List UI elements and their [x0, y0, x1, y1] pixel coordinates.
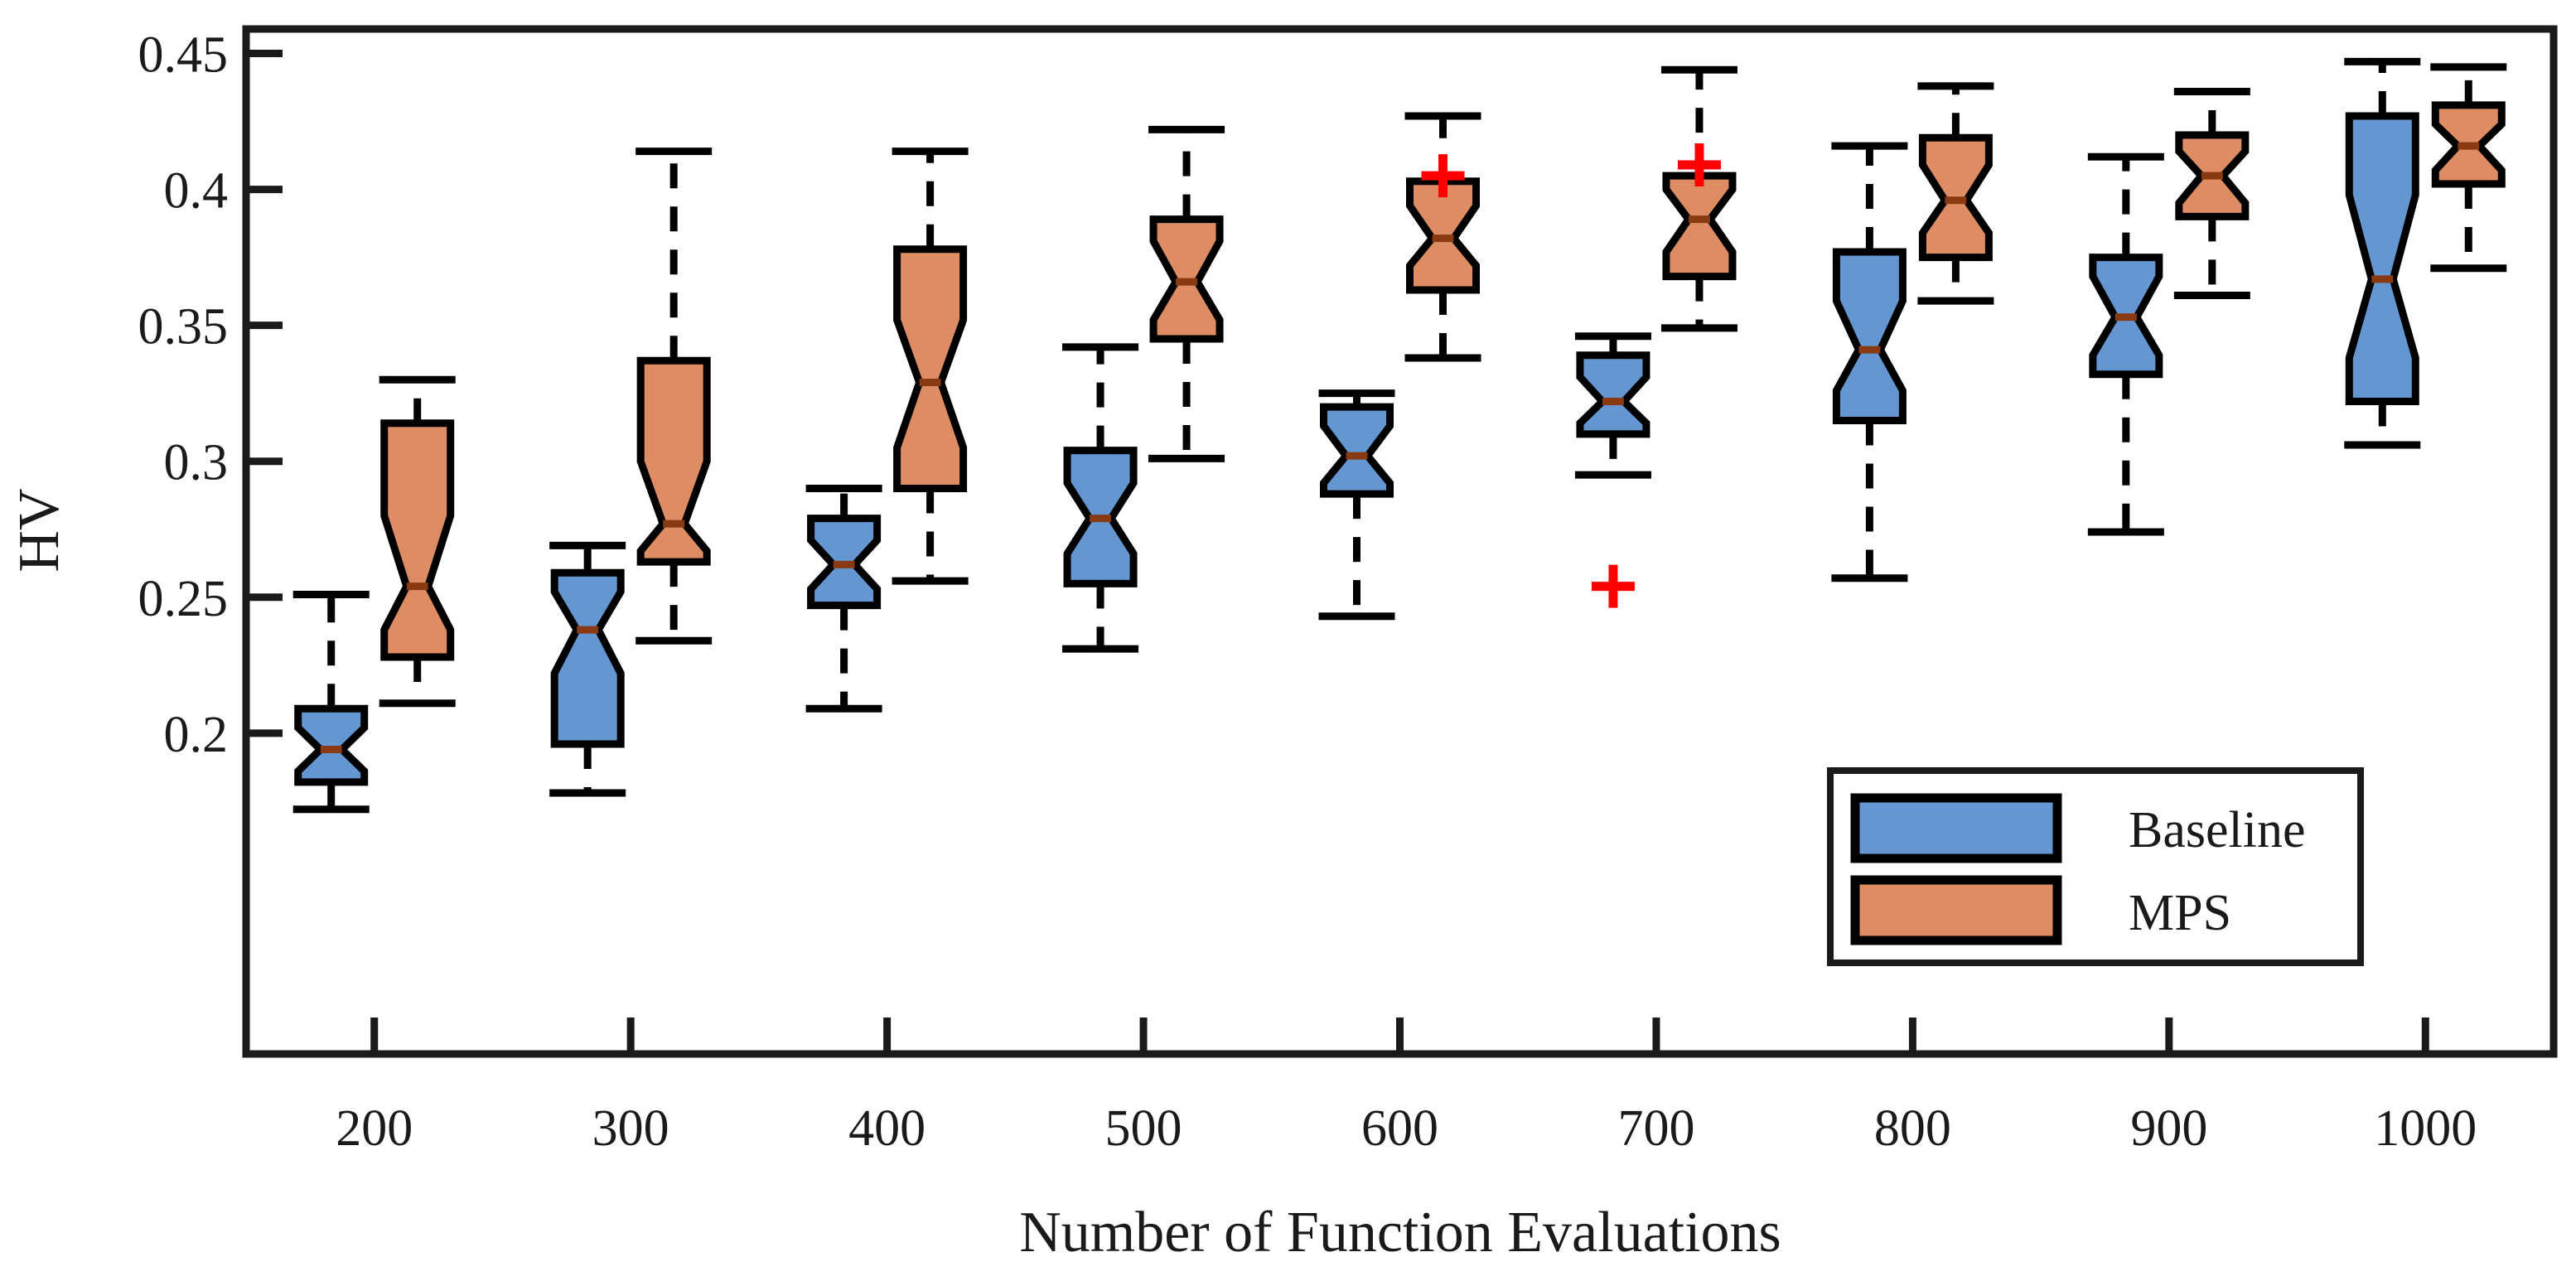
- boxplot-series-baseline: [293, 61, 2421, 809]
- x-tick-label: 400: [848, 1100, 926, 1157]
- box-notched: [897, 249, 964, 489]
- x-tick-label: 600: [1361, 1100, 1438, 1157]
- x-tick-label: 300: [592, 1100, 669, 1157]
- x-axis-title: Number of Function Evaluations: [1019, 1201, 1781, 1264]
- outlier-marker: [1592, 565, 1635, 608]
- x-tick-label: 700: [1617, 1100, 1694, 1157]
- y-tick-label: 0.3: [164, 435, 229, 491]
- x-tick-label: 1000: [2374, 1100, 2477, 1157]
- x-tick-label: 900: [2130, 1100, 2207, 1157]
- legend[interactable]: Baseline MPS: [1830, 771, 2361, 963]
- boxplot-box: [1062, 347, 1138, 649]
- box-notched: [298, 708, 365, 782]
- boxplot-box: [1831, 146, 1907, 578]
- boxplot-box: [2430, 67, 2506, 268]
- x-tick-label: 800: [1874, 1100, 1951, 1157]
- x-tick-label: 200: [336, 1100, 413, 1157]
- boxplot-box: [2174, 91, 2250, 295]
- boxplot-box: [1575, 336, 1651, 475]
- legend-label-baseline: Baseline: [2129, 802, 2306, 858]
- boxplot-box: [2088, 157, 2164, 532]
- x-axis-tick-labels: 2003004005006007008009001000: [336, 1100, 2477, 1157]
- box-notched: [384, 423, 451, 657]
- y-tick-label: 0.25: [138, 571, 229, 627]
- x-axis-ticks: [375, 1018, 2426, 1054]
- box-notched: [1836, 252, 1902, 420]
- box-notched: [1324, 407, 1390, 494]
- y-tick-label: 0.2: [164, 707, 229, 763]
- boxplot-box: [293, 594, 370, 809]
- y-axis-ticks: [246, 54, 283, 733]
- chart-canvas: 0.450.40.350.30.250.2 200300400500600700…: [0, 0, 2576, 1281]
- legend-swatch-baseline: [1855, 798, 2057, 858]
- x-tick-label: 500: [1105, 1100, 1182, 1157]
- boxplot-box: [549, 545, 626, 793]
- boxplot-box: [2344, 61, 2420, 445]
- figure-boxplot-hv: 0.450.40.350.30.250.2 200300400500600700…: [0, 0, 2576, 1281]
- boxplot-series-layer: [293, 61, 2507, 809]
- box-notched: [554, 573, 621, 744]
- legend-label-mps: MPS: [2129, 885, 2231, 941]
- boxplot-box: [806, 489, 882, 709]
- boxplot-box: [1319, 394, 1395, 616]
- box-notched: [640, 360, 707, 562]
- boxplot-box: [1661, 70, 1737, 328]
- boxplot-box: [379, 379, 456, 703]
- boxplot-box: [1405, 116, 1481, 358]
- box-notched: [1666, 176, 1733, 276]
- box-notched: [2349, 116, 2415, 402]
- y-tick-label: 0.4: [164, 163, 229, 220]
- boxplot-box: [1148, 129, 1225, 458]
- box-notched: [1580, 355, 1646, 434]
- y-axis-title: HV: [7, 488, 71, 572]
- boxplot-box: [1917, 86, 1994, 301]
- boxplot-box: [636, 152, 712, 641]
- legend-swatch-mps: [1855, 880, 2057, 940]
- boxplot-box: [892, 152, 969, 581]
- y-tick-label: 0.45: [138, 27, 229, 84]
- y-tick-label: 0.35: [138, 299, 229, 355]
- y-axis-tick-labels: 0.450.40.350.30.250.2: [138, 27, 229, 763]
